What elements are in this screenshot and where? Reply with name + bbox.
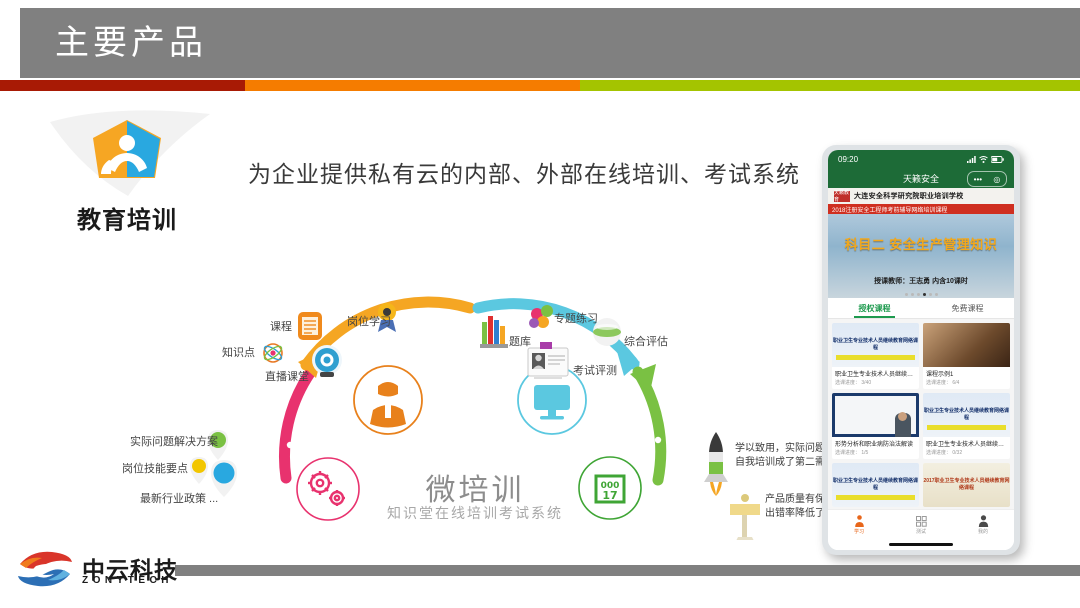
promo-banner[interactable]: 2018注册安全工程师考前辅导网络培训课程 科目二 安全生产管理知识 授课教师：… [828, 204, 1014, 298]
school-badge: 天籁教育 [834, 191, 850, 202]
status-time: 09:20 [838, 155, 858, 164]
banner-title: 科目二 安全生产管理知识 [828, 234, 1014, 253]
course-thumb [832, 393, 919, 437]
label-course: 课程 [270, 318, 292, 334]
page-title: 主要产品 [55, 22, 207, 64]
label-live-class: 直播课堂 [265, 368, 309, 384]
grid-test-icon [916, 516, 927, 527]
course-thumb: 职业卫生专业技术人员继续教育网络课程 [923, 393, 1010, 437]
tab-free-courses[interactable]: 免费课程 [921, 298, 1014, 318]
accent-segment-green [580, 80, 1080, 91]
course-card[interactable]: 形势分析和职业病防治法解读 选课进度： 1/5 [832, 393, 919, 459]
phone-tabbar: 学习 测试 [828, 509, 1014, 550]
banner-dots[interactable] [828, 293, 1014, 296]
more-icon[interactable]: ••• [974, 175, 982, 184]
tabbar-label: 测试 [916, 528, 926, 535]
tabbar-label: 我的 [978, 528, 988, 535]
cover-text: 职业卫生专业技术人员继续教育网络课程 [832, 337, 919, 351]
pin-label-solutions: 实际问题解决方案 [130, 433, 218, 449]
rocket-icon [704, 432, 728, 496]
phone-nav-bar: 天籁安全 ••• ◎ [828, 168, 1014, 188]
course-thumb [923, 323, 1010, 367]
label-exam-evaluation: 考试评测 [573, 362, 617, 378]
pin-yellow [190, 457, 208, 484]
phone-mockup: 09:20 [822, 145, 1020, 555]
course-card[interactable]: 职业卫生专业技术人员继续教育网络课程 [832, 463, 919, 507]
nav-capsule[interactable]: ••• ◎ [967, 171, 1007, 187]
tabbar-label: 学习 [854, 528, 864, 535]
battery-icon [991, 156, 1004, 163]
signal-icon [967, 156, 976, 163]
course-title: 课程示例1 [923, 367, 1010, 378]
education-label: 教育培训 [42, 200, 212, 235]
infographic: 000 17 [110, 290, 830, 540]
education-training-icon [87, 116, 167, 192]
pin-label-policy: 最新行业政策 ... [140, 490, 218, 506]
cover-text: 职业卫生专业技术人员继续教育网络课程 [832, 477, 919, 491]
brand-name-en: ZONYTECH [82, 575, 173, 586]
course-title: 职业卫生专业技术人员继续教... [923, 437, 1010, 448]
id-card-icon [528, 342, 568, 378]
tabbar-test[interactable]: 测试 [890, 510, 952, 540]
course-progress: 选课进度： 0/32 [923, 448, 1010, 459]
cover-text: 职业卫生专业技术人员继续教育网络课程 [923, 407, 1010, 421]
books-icon [480, 316, 508, 348]
school-name: 大连安全科学研究院职业培训学校 [854, 191, 964, 201]
footer-bar [175, 565, 1080, 576]
nav-title: 天籁安全 [903, 172, 939, 185]
accent-bar [0, 80, 1080, 91]
course-thumb: 职业卫生专业技术人员继续教育网络课程 [832, 463, 919, 507]
document-list-icon [298, 312, 322, 340]
atom-icon [263, 344, 284, 362]
phone-status-bar: 09:20 [828, 150, 1014, 168]
label-comprehensive-assessment: 综合评估 [624, 333, 668, 349]
course-grid: 职业卫生专业技术人员继续教育网络课程 职业卫生专业技术人员继续教... 选课进度… [828, 319, 1014, 511]
center-subtitle: 知识堂在线培训考试系统 [345, 503, 605, 523]
person-study-icon [854, 515, 865, 527]
course-card[interactable]: 课程示例1 选课进度： 6/4 [923, 323, 1010, 389]
zonytech-swirl-icon [16, 548, 74, 592]
svg-text:17: 17 [602, 489, 617, 502]
wifi-icon [979, 156, 988, 163]
label-knowledge-point: 知识点 [222, 344, 255, 360]
course-card[interactable]: 2017职业卫生专业技术人员继续教育网络课程 [923, 463, 1010, 507]
brand-logo: 中云科技 ZONYTECH [16, 548, 191, 594]
target-icon[interactable]: ◎ [993, 175, 1000, 184]
tab-authorized-courses[interactable]: 授权课程 [828, 298, 921, 318]
signpost-icon [730, 494, 760, 540]
headline-text: 为企业提供私有云的内部、外部在线培训、考试系统 [248, 155, 800, 189]
accent-segment-red [0, 80, 245, 91]
tabbar-mine[interactable]: 我的 [952, 510, 1014, 540]
course-thumb: 2017职业卫生专业技术人员继续教育网络课程 [923, 463, 1010, 507]
user-profile-icon [978, 515, 989, 527]
education-block: 教育培训 [42, 108, 212, 236]
label-question-bank: 题库 [509, 333, 531, 349]
school-bar: 天籁教育 大连安全科学研究院职业培训学校 [828, 188, 1014, 204]
course-progress: 选课进度： 3/40 [832, 378, 919, 389]
course-progress: 选课进度： 6/4 [923, 378, 1010, 389]
banner-subtitle: 授课教师：王志勇 内含10课时 [828, 276, 1014, 286]
course-card[interactable]: 职业卫生专业技术人员继续教育网络课程 职业卫生专业技术人员继续教... 选课进度… [832, 323, 919, 389]
course-thumb: 职业卫生专业技术人员继续教育网络课程 [832, 323, 919, 367]
cover-text: 2017职业卫生专业技术人员继续教育网络课程 [923, 477, 1010, 491]
course-tabs[interactable]: 授权课程 免费课程 [828, 298, 1014, 319]
label-job-learning: 岗位学习 [347, 313, 391, 329]
course-title: 形势分析和职业病防治法解读 [832, 437, 919, 448]
phone-screen: 09:20 [828, 150, 1014, 550]
accent-segment-orange [245, 80, 580, 91]
pin-label-skills: 岗位技能要点 [122, 460, 188, 476]
slide: 主要产品 教育培训 为企业提供私有云的内部、外部在线培训、考试系统 [0, 0, 1080, 608]
banner-strip: 2018注册安全工程师考前辅导网络培训课程 [828, 204, 1014, 214]
course-title: 职业卫生专业技术人员继续教... [832, 367, 919, 378]
course-card[interactable]: 职业卫生专业技术人员继续教育网络课程 职业卫生专业技术人员继续教... 选课进度… [923, 393, 1010, 459]
label-special-exercise: 专题练习 [554, 310, 598, 326]
tabbar-study[interactable]: 学习 [828, 510, 890, 540]
home-indicator[interactable] [889, 543, 953, 546]
course-progress: 选课进度： 1/5 [832, 448, 919, 459]
